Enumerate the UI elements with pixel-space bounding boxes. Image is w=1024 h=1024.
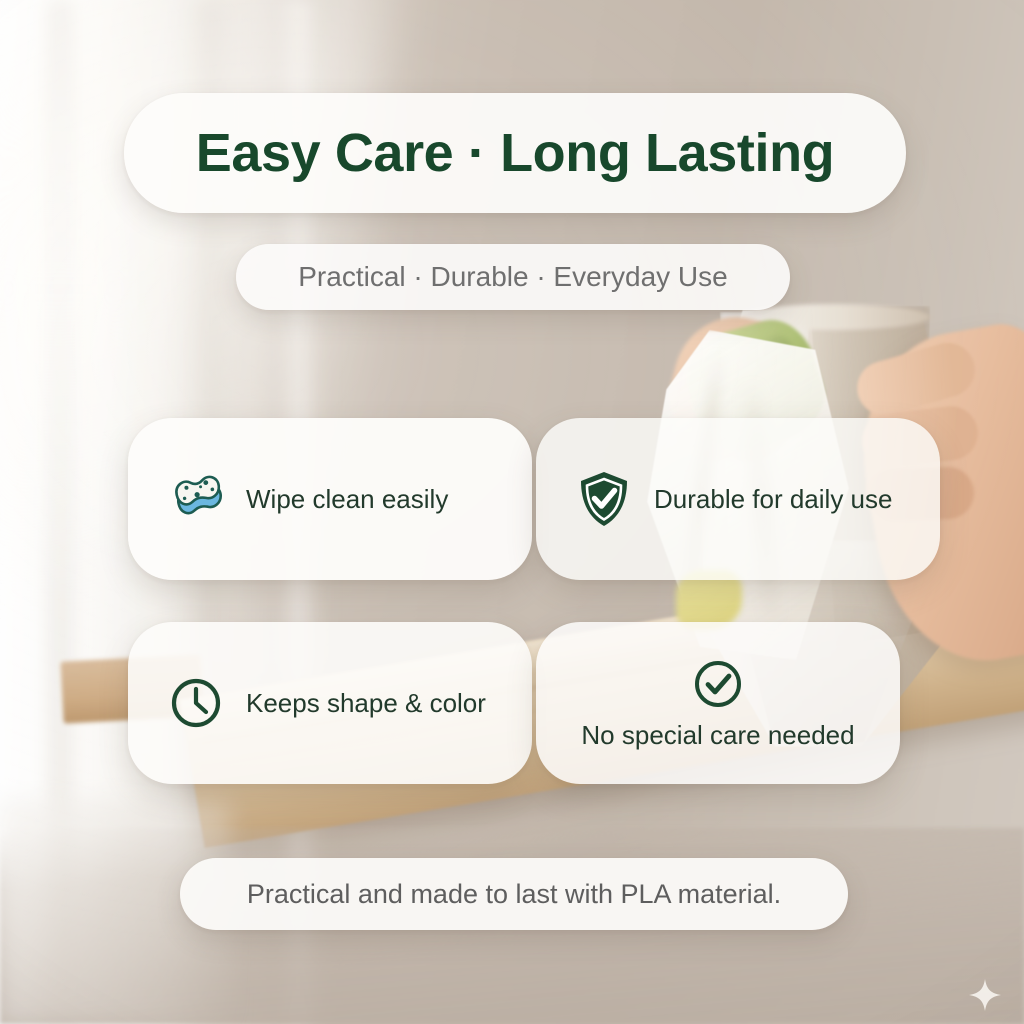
circle-check-icon [690,656,746,712]
feature-card-wipe-clean[interactable]: Wipe clean easily [128,418,532,580]
page-title: Easy Care · Long Lasting [196,122,835,184]
feature-card-durable[interactable]: Durable for daily use [536,418,940,580]
feature-label: Wipe clean easily [246,484,448,515]
sparkle-icon [968,978,1002,1012]
footer-pill: Practical and made to last with PLA mate… [180,858,848,930]
feature-label: Durable for daily use [654,484,892,515]
sponge-icon [168,471,224,527]
subtitle-pill: Practical · Durable · Everyday Use [236,244,790,310]
footer-caption: Practical and made to last with PLA mate… [247,879,781,910]
clock-icon [168,675,224,731]
feature-label: Keeps shape & color [246,688,486,719]
light-shaft-secondary [0,60,120,620]
shield-check-icon [576,471,632,527]
feature-card-keeps-shape[interactable]: Keeps shape & color [128,622,532,784]
page-subtitle: Practical · Durable · Everyday Use [298,261,727,293]
curtain-fold-left [44,0,78,1024]
finger [851,337,981,422]
cloth-fold [702,332,795,390]
feature-card-no-special-care[interactable]: No special care needed [536,622,900,784]
infographic-canvas: Easy Care · Long Lasting Practical · Dur… [0,0,1024,1024]
title-pill: Easy Care · Long Lasting [124,93,906,213]
feature-label: No special care needed [581,720,854,751]
